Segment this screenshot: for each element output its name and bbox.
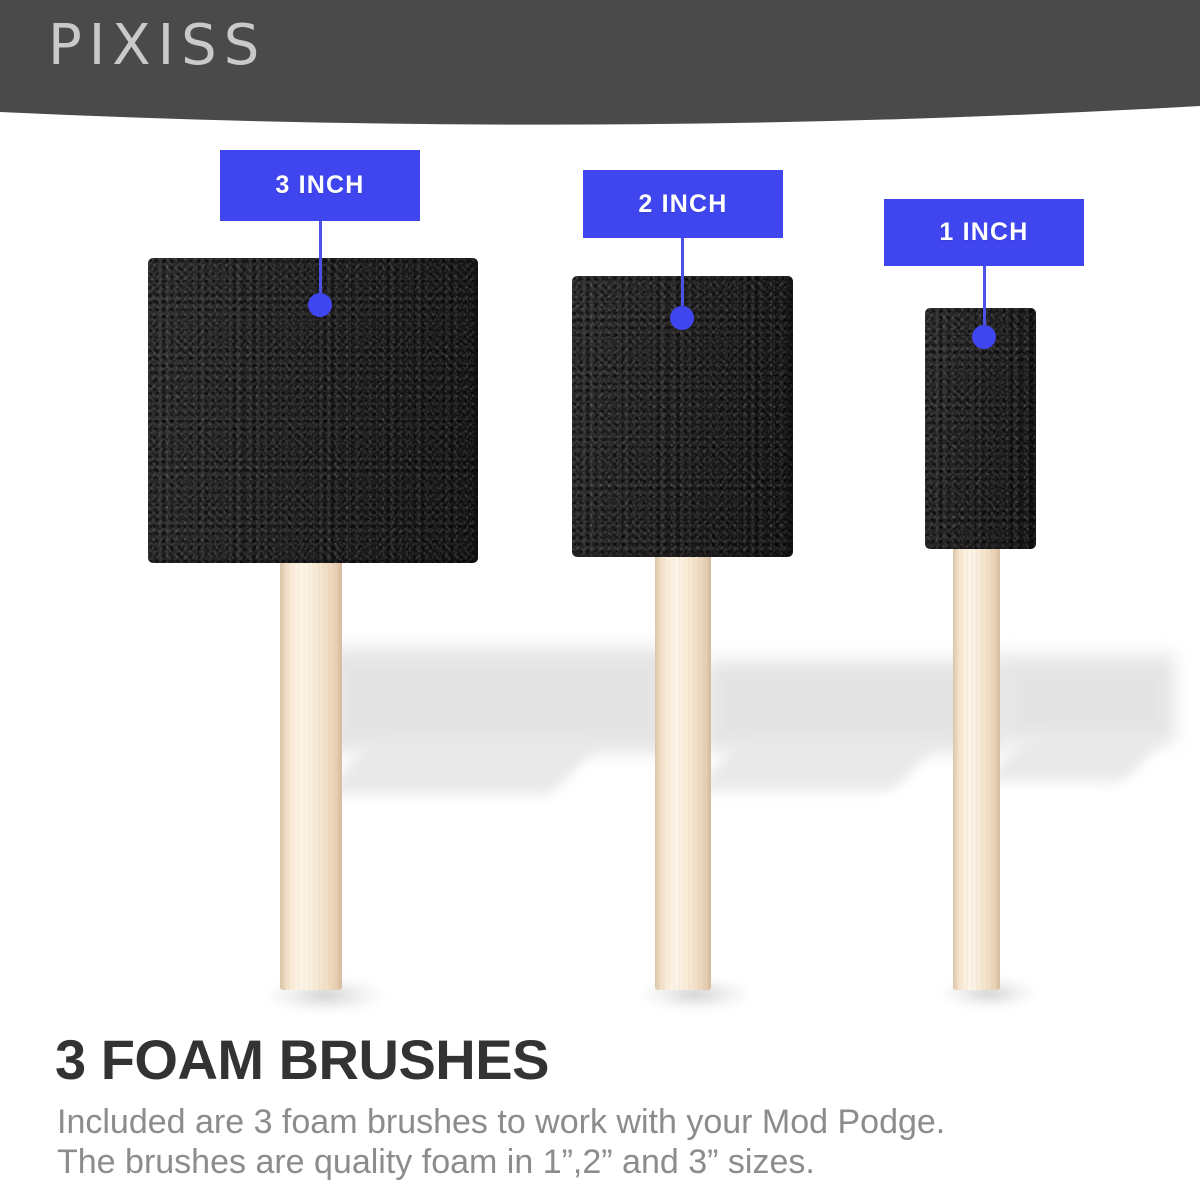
brand-logo: PIXISS <box>48 18 266 74</box>
shadow-brush-1inch <box>1000 655 1175 743</box>
brush-handle-1inch <box>953 549 1000 990</box>
shadow-brush-3inch <box>330 648 690 753</box>
callout-dot-1inch <box>972 325 996 349</box>
callout-line-3inch <box>319 221 322 293</box>
shadow-brush-1inch-tail <box>985 738 1165 782</box>
product-infographic: PIXISS 3 INCH 2 INCH 1 INCH 3 FOAM BRUSH… <box>0 0 1200 1187</box>
shadow-brush-3inch-tail <box>322 745 597 795</box>
callout-line-2inch <box>681 238 684 306</box>
brush-handle-2inch <box>655 557 711 990</box>
brand-banner: PIXISS <box>0 0 1200 132</box>
callout-label-3inch[interactable]: 3 INCH <box>220 150 420 221</box>
footer-body-line-2: The brushes are quality foam in 1”,2” an… <box>57 1143 815 1182</box>
footer-headline: 3 FOAM BRUSHES <box>55 1031 549 1090</box>
callout-line-1inch <box>983 266 986 325</box>
shadow-brush-2inch-tail <box>694 745 935 791</box>
callout-label-2inch[interactable]: 2 INCH <box>583 170 783 238</box>
callout-dot-3inch <box>308 293 332 317</box>
callout-label-1inch[interactable]: 1 INCH <box>884 199 1084 266</box>
brush-handle-3inch <box>280 563 342 990</box>
footer-body-line-1: Included are 3 foam brushes to work with… <box>57 1103 945 1142</box>
callout-dot-2inch <box>670 306 694 330</box>
